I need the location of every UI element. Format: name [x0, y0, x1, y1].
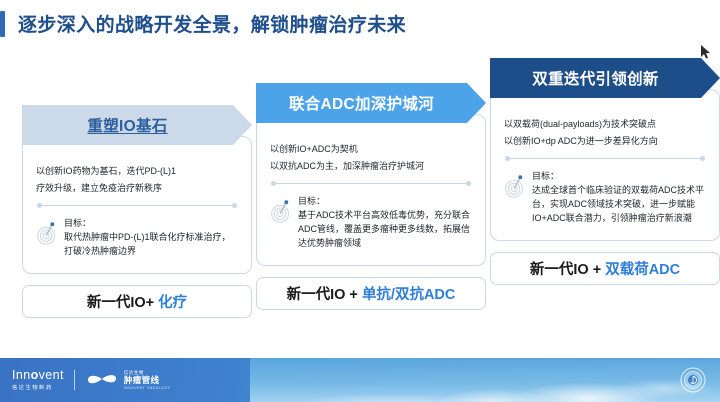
logo-divider [74, 370, 75, 390]
wave-decoration [250, 358, 720, 402]
stage-2-goal-title: 目标： [298, 194, 472, 207]
slide-canvas: 逐步深入的战略开发全景，解锁肿瘤治疗未来 重塑IO基石 以创新IO药物为基石，迭… [0, 0, 720, 402]
stage-2-goal-body: 基于ADC技术平台高效低毒优势，充分联合ADC管线，覆盖更多瘤种更多线数，拓展信… [298, 209, 472, 251]
stage-column-3: 双重迭代引领创新 以双载荷(dual-payloads)为技术突破点 以创新IO… [490, 58, 720, 285]
innovent-logo-en: Innovent [12, 369, 64, 382]
stage-1-title: 重塑IO基石 [81, 114, 173, 136]
stage-2-pill-prefix: 新一代IO + [287, 287, 362, 303]
title-accent-bar [0, 11, 5, 37]
stage-2-arrow-head-icon [467, 83, 486, 123]
stage-1-goal-text: 目标： 取代热肿瘤中PD-(L)1联合化疗标准治疗，打破冷热肿瘤边界 [64, 216, 238, 259]
stage-3-lead: 以双载荷(dual-payloads)为技术突破点 以创新IO+dp ADC为进… [504, 104, 706, 149]
pipeline-sub-text: INNOVENT ONCOLOGY [124, 386, 171, 390]
circular-seal-icon [680, 367, 706, 393]
stage-1-banner[interactable]: 重塑IO基石 [22, 105, 252, 145]
stage-3-pill-text: 新一代IO + 双载荷ADC [530, 258, 680, 279]
oncology-pipeline-logo: 信达生物 肿瘤管线 INNOVENT ONCOLOGY [85, 370, 171, 390]
stage-3-goal-title: 目标： [532, 169, 706, 182]
stage-2-divider [273, 183, 469, 184]
innovent-logo-cn: 信达生物制药 [12, 384, 53, 391]
stage-3-pill[interactable]: 新一代IO + 双载荷ADC [490, 252, 720, 285]
stage-3-goal: 目标： 达成全球首个临床验证的双载荷ADC技术平台，实现ADC领域技术突破，进一… [504, 169, 706, 226]
footer-bar: Innovent 信达生物制药 信达生物 肿瘤管线 INNOVENT ONCOL… [0, 358, 720, 402]
stage-3-lead-line-2: 以创新IO+dp ADC为进一步差异化方向 [504, 133, 706, 150]
stage-1-pill-text: 新一代IO+ 化疗 [87, 291, 187, 312]
stage-3-banner-body: 双重迭代引领创新 [490, 58, 701, 98]
stage-1-divider [39, 205, 235, 206]
target-icon [504, 173, 526, 199]
footer-logo-group: Innovent 信达生物制药 信达生物 肿瘤管线 INNOVENT ONCOL… [12, 367, 170, 393]
stage-2-card: 以创新IO+ADC为契机 以双抗ADC为主，加深肿瘤治疗护城河 目标： 基于AD… [256, 114, 486, 266]
stage-3-pill-prefix: 新一代IO + [530, 262, 605, 278]
stage-2-banner[interactable]: 联合ADC加深护城河 [256, 83, 486, 123]
stage-2-lead-line-1: 以创新IO+ADC为契机 [270, 141, 472, 158]
oncology-pipeline-text: 信达生物 肿瘤管线 INNOVENT ONCOLOGY [124, 370, 171, 390]
stage-1-banner-body: 重塑IO基石 [22, 105, 233, 145]
stage-2-lead-line-2: 以双抗ADC为主，加深肿瘤治疗护城河 [270, 158, 472, 175]
stage-1-pill-prefix: 新一代IO+ [87, 295, 158, 311]
stage-1-lead-line-2: 疗效升级，建立免疫治疗新秩序 [36, 180, 238, 197]
stage-2-banner-body: 联合ADC加深护城河 [256, 83, 467, 123]
stage-3-title: 双重迭代引领创新 [526, 67, 664, 89]
stage-2-lead: 以创新IO+ADC为契机 以双抗ADC为主，加深肿瘤治疗护城河 [270, 129, 472, 174]
stage-1-goal-body: 取代热肿瘤中PD-(L)1联合化疗标准治疗，打破冷热肿瘤边界 [64, 231, 238, 259]
stage-3-divider [507, 158, 703, 159]
innovent-logo: Innovent 信达生物制药 [12, 369, 64, 391]
stage-1-pill[interactable]: 新一代IO+ 化疗 [22, 285, 252, 318]
stage-2-goal-text: 目标： 基于ADC技术平台高效低毒优势，充分联合ADC管线，覆盖更多瘤种更多线数… [298, 194, 472, 251]
innovent-en-part2: o [31, 368, 39, 382]
stage-1-goal-title: 目标： [64, 216, 238, 229]
target-icon [36, 220, 58, 246]
stage-3-pill-highlight: 双载荷ADC [605, 262, 680, 278]
pipeline-main-text: 肿瘤管线 [124, 376, 171, 386]
stage-3-goal-body: 达成全球首个临床验证的双载荷ADC技术平台，实现ADC领域技术突破，进一步赋能I… [532, 184, 706, 226]
infinity-icon [85, 371, 119, 388]
stage-3-arrow-head-icon [701, 58, 720, 98]
stage-1-pill-highlight: 化疗 [158, 295, 187, 311]
page-title: 逐步深入的战略开发全景，解锁肿瘤治疗未来 [0, 10, 406, 37]
stage-2-pill-text: 新一代IO + 单抗/双抗ADC [287, 283, 456, 304]
stage-1-card: 以创新IO药物为基石，迭代PD-(L)1 疗效升级，建立免疫治疗新秩序 目标： … [22, 136, 252, 274]
stage-3-card: 以双载荷(dual-payloads)为技术突破点 以创新IO+dp ADC为进… [490, 89, 720, 241]
stage-column-2: 联合ADC加深护城河 以创新IO+ADC为契机 以双抗ADC为主，加深肿瘤治疗护… [256, 83, 486, 310]
title-text: 逐步深入的战略开发全景，解锁肿瘤治疗未来 [18, 10, 406, 37]
innovent-en-part3: vent [39, 368, 64, 382]
stage-1-arrow-head-icon [233, 105, 252, 145]
stage-2-title: 联合ADC加深护城河 [283, 92, 440, 114]
stage-3-banner[interactable]: 双重迭代引领创新 [490, 58, 720, 98]
stage-1-goal: 目标： 取代热肿瘤中PD-(L)1联合化疗标准治疗，打破冷热肿瘤边界 [36, 216, 238, 259]
stage-2-pill[interactable]: 新一代IO + 单抗/双抗ADC [256, 277, 486, 310]
stage-1-lead-line-1: 以创新IO药物为基石，迭代PD-(L)1 [36, 163, 238, 180]
target-icon [270, 198, 292, 224]
stage-3-goal-text: 目标： 达成全球首个临床验证的双载荷ADC技术平台，实现ADC领域技术突破，进一… [532, 169, 706, 226]
stage-2-goal: 目标： 基于ADC技术平台高效低毒优势，充分联合ADC管线，覆盖更多瘤种更多线数… [270, 194, 472, 251]
stage-2-pill-highlight: 单抗/双抗ADC [362, 287, 455, 303]
stage-column-1: 重塑IO基石 以创新IO药物为基石，迭代PD-(L)1 疗效升级，建立免疫治疗新… [22, 105, 252, 318]
stage-3-lead-line-1: 以双载荷(dual-payloads)为技术突破点 [504, 116, 706, 133]
stage-1-lead: 以创新IO药物为基石，迭代PD-(L)1 疗效升级，建立免疫治疗新秩序 [36, 151, 238, 196]
innovent-en-part1: Inn [12, 368, 31, 382]
